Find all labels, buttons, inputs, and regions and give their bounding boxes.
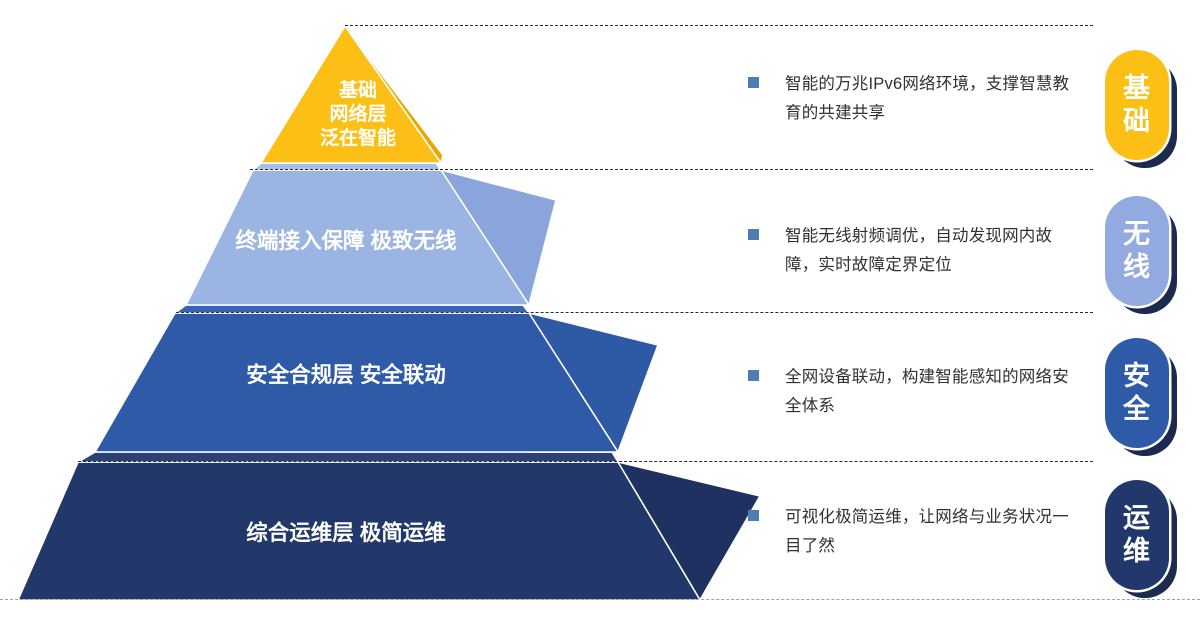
guide-line-wireless (250, 169, 1093, 170)
operations-layer-label: 综合运维层 极简运维 (246, 520, 445, 545)
badge-security-char-2: 全 (1123, 393, 1151, 426)
pyramid-layer-foundation[interactable]: 基础 网络层 泛在智能 (261, 26, 443, 163)
bullet-foundation: 智能的万兆IPv6网络环境，支撑智慧教育的共建共享 (748, 70, 1078, 128)
bullet-square-icon (748, 370, 759, 381)
security-layer-label: 安全合规层 安全联动 (246, 362, 445, 387)
badge-security-char-1: 安 (1123, 360, 1151, 393)
badge-wireless-char-1: 无 (1123, 218, 1151, 251)
badge-wireless[interactable]: 无 线 (1105, 196, 1169, 306)
badge-foundation-char-1: 基 (1123, 72, 1151, 105)
foundation-layer-label-line-3: 泛在智能 (320, 126, 396, 149)
badge-foundation-char-2: 础 (1123, 105, 1151, 138)
badge-foundation-wrap: 基 础 (1105, 50, 1179, 168)
badge-operations-char-2: 维 (1123, 535, 1151, 568)
guide-line-baseline (0, 599, 1200, 600)
badge-operations-char-1: 运 (1123, 502, 1151, 535)
bullet-square-icon (748, 229, 759, 240)
wireless-layer-label: 终端接入保障 极致无线 (236, 228, 457, 253)
badge-operations-wrap: 运 维 (1105, 480, 1179, 598)
pyramid-layer-operations[interactable]: 综合运维层 极简运维 (18, 452, 760, 600)
bullet-square-icon (748, 510, 759, 521)
foundation-layer-label-line-1: 基础 (338, 78, 377, 101)
bullet-square-icon (748, 77, 759, 88)
badge-security[interactable]: 安 全 (1105, 338, 1169, 448)
bullet-wireless-text: 智能无线射频调优，自动发现网内故障，实时故障定界定位 (785, 222, 1078, 280)
badge-wireless-wrap: 无 线 (1105, 196, 1179, 314)
bullet-operations: 可视化极简运维，让网络与业务状况一目了然 (748, 503, 1078, 561)
badge-wireless-char-2: 线 (1123, 251, 1151, 284)
foundation-layer-label-line-2: 网络层 (329, 102, 386, 125)
bullet-wireless: 智能无线射频调优，自动发现网内故障，实时故障定界定位 (748, 222, 1078, 280)
diagram-canvas: 综合运维层 极简运维 安全合规层 安全联动 终端接入保障 极致无线 基础 网络层… (0, 0, 1200, 620)
guide-line-operations (78, 461, 1093, 462)
bullet-security-text: 全网设备联动，构建智能感知的网络安全体系 (785, 363, 1078, 421)
guide-line-security (176, 312, 1093, 313)
bullet-foundation-text: 智能的万兆IPv6网络环境，支撑智慧教育的共建共享 (785, 70, 1078, 128)
bullet-operations-text: 可视化极简运维，让网络与业务状况一目了然 (785, 503, 1078, 561)
badge-foundation[interactable]: 基 础 (1105, 50, 1169, 160)
bullet-security: 全网设备联动，构建智能感知的网络安全体系 (748, 363, 1078, 421)
pyramid-layer-security[interactable]: 安全合规层 安全联动 (95, 305, 658, 452)
badge-operations[interactable]: 运 维 (1105, 480, 1169, 590)
pyramid-layer-wireless[interactable]: 终端接入保障 极致无线 (186, 163, 556, 305)
badge-security-wrap: 安 全 (1105, 338, 1179, 456)
guide-line-foundation (345, 25, 1093, 26)
